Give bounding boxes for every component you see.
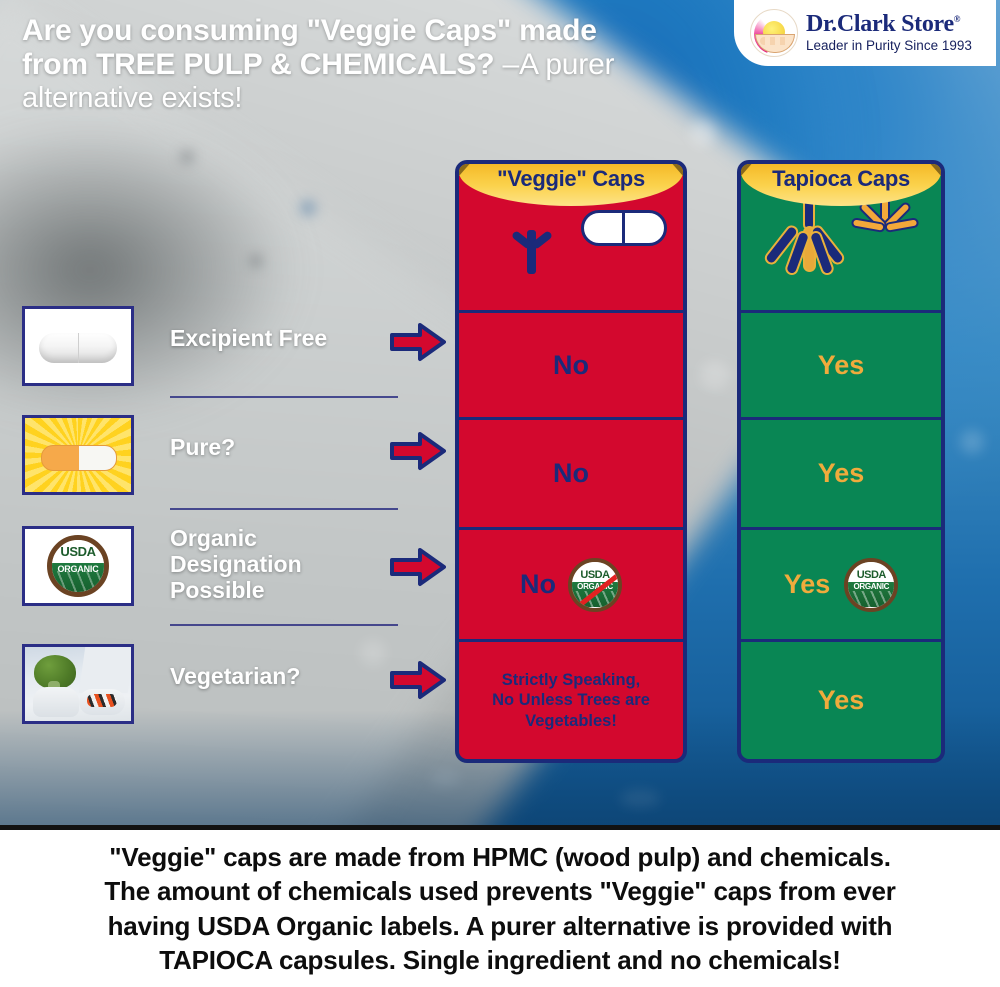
bokeh-dot: [180, 150, 194, 164]
usda-line-2: ORGANIC: [848, 582, 894, 591]
answer-value: Yes: [818, 685, 865, 716]
answer-value: No: [553, 350, 589, 381]
headline-line-1: Are you consuming "Veggie Caps" made: [22, 14, 732, 48]
right-arrow-icon: [390, 322, 446, 362]
criteria-label: Pure?: [170, 435, 235, 461]
right-arrow-icon: [390, 660, 446, 700]
criteria-label: Organic Designation Possible: [170, 526, 302, 603]
criteria-row: Vegetarian?: [0, 638, 450, 742]
infographic-canvas: Are you consuming "Veggie Caps" made fro…: [0, 0, 1000, 987]
answer-value: No: [553, 458, 589, 489]
caption-line-1: "Veggie" caps are made from HPMC (wood p…: [15, 840, 985, 874]
answer-cell: No: [459, 420, 683, 527]
caption-line-2: The amount of chemicals used prevents "V…: [15, 874, 985, 908]
white-capsule-photo: [22, 306, 134, 386]
right-arrow-icon: [390, 431, 446, 471]
usda-line-1: USDA: [848, 569, 894, 581]
criteria-row: Excipient Free: [0, 300, 450, 404]
caption-bar: "Veggie" caps are made from HPMC (wood p…: [0, 825, 1000, 987]
answer-cell: Yes: [741, 642, 941, 759]
headline-line-3: alternative exists!: [22, 82, 732, 115]
right-arrow-icon: [390, 547, 446, 587]
criteria-divider: [170, 508, 398, 510]
usda-organic-seal-crossed-out: USDA ORGANIC: [568, 558, 622, 612]
brand-tagline: Leader in Purity Since 1993: [806, 39, 972, 54]
hands-holding-sun-icon: [750, 9, 798, 57]
answer-cell: Yes: [741, 420, 941, 527]
caption-text: "Veggie" caps are made from HPMC (wood p…: [15, 840, 985, 977]
usda-line-1: USDA: [60, 544, 95, 559]
caption-line-3: having USDA Organic labels. A purer alte…: [15, 909, 985, 943]
bokeh-dot: [690, 120, 716, 146]
usda-organic-seal: USDA ORGANIC: [844, 558, 898, 612]
answer-cell: No USDA ORGANIC: [459, 530, 683, 639]
card-title: "Veggie" Caps: [459, 166, 683, 192]
criteria-label: Excipient Free: [170, 326, 327, 352]
bokeh-dot: [250, 255, 262, 267]
comparison-card-tapioca: Yes Yes Yes USDA ORGANIC Yes Tapioca Cap…: [737, 160, 945, 763]
headline: Are you consuming "Veggie Caps" made fro…: [22, 14, 732, 115]
bokeh-dot: [700, 360, 730, 390]
criteria-divider: [170, 396, 398, 398]
answer-cell: Strictly Speaking, No Unless Trees are V…: [459, 642, 683, 759]
headline-line-2-bold: from TREE PULP & CHEMICALS?: [22, 48, 494, 81]
headline-line-2-thin: –A purer: [494, 48, 614, 81]
answer-cell: No: [459, 313, 683, 417]
capsule-sunburst-photo: [22, 415, 134, 495]
criteria-row: Pure?: [0, 409, 450, 513]
criteria-label: Vegetarian?: [170, 664, 300, 690]
registered-mark: ®: [954, 14, 960, 24]
usda-organic-seal: USDA ORGANIC: [22, 526, 134, 606]
bokeh-dot: [300, 200, 316, 216]
card-header-banner: Tapioca Caps: [741, 160, 941, 210]
answer-value: Yes: [784, 569, 831, 600]
caption-line-4: TAPIOCA capsules. Single ingredient and …: [15, 943, 985, 977]
brand-logo[interactable]: Dr.Clark Store® Leader in Purity Since 1…: [734, 0, 996, 66]
answer-cell: Yes USDA ORGANIC: [741, 530, 941, 639]
broccoli-capsules-photo: [22, 644, 134, 724]
criteria-row: USDA ORGANIC Organic Designation Possibl…: [0, 520, 450, 624]
headline-line-2: from TREE PULP & CHEMICALS? –A purer: [22, 48, 732, 82]
answer-value: No: [520, 569, 556, 600]
brand-name: Dr.Clark Store®: [806, 12, 972, 36]
bokeh-dot: [960, 430, 984, 454]
criteria-divider: [170, 624, 398, 626]
capsule-icon: [581, 210, 667, 246]
card-header-banner: "Veggie" Caps: [459, 160, 683, 210]
answer-value: Yes: [818, 350, 865, 381]
card-title: Tapioca Caps: [741, 166, 941, 192]
answer-cell: Yes: [741, 313, 941, 417]
answer-value: Yes: [818, 458, 865, 489]
answer-value: Strictly Speaking, No Unless Trees are V…: [484, 670, 658, 732]
comparison-card-veggie: No No No USDA ORGANIC Strictly Speaking,…: [455, 160, 687, 763]
